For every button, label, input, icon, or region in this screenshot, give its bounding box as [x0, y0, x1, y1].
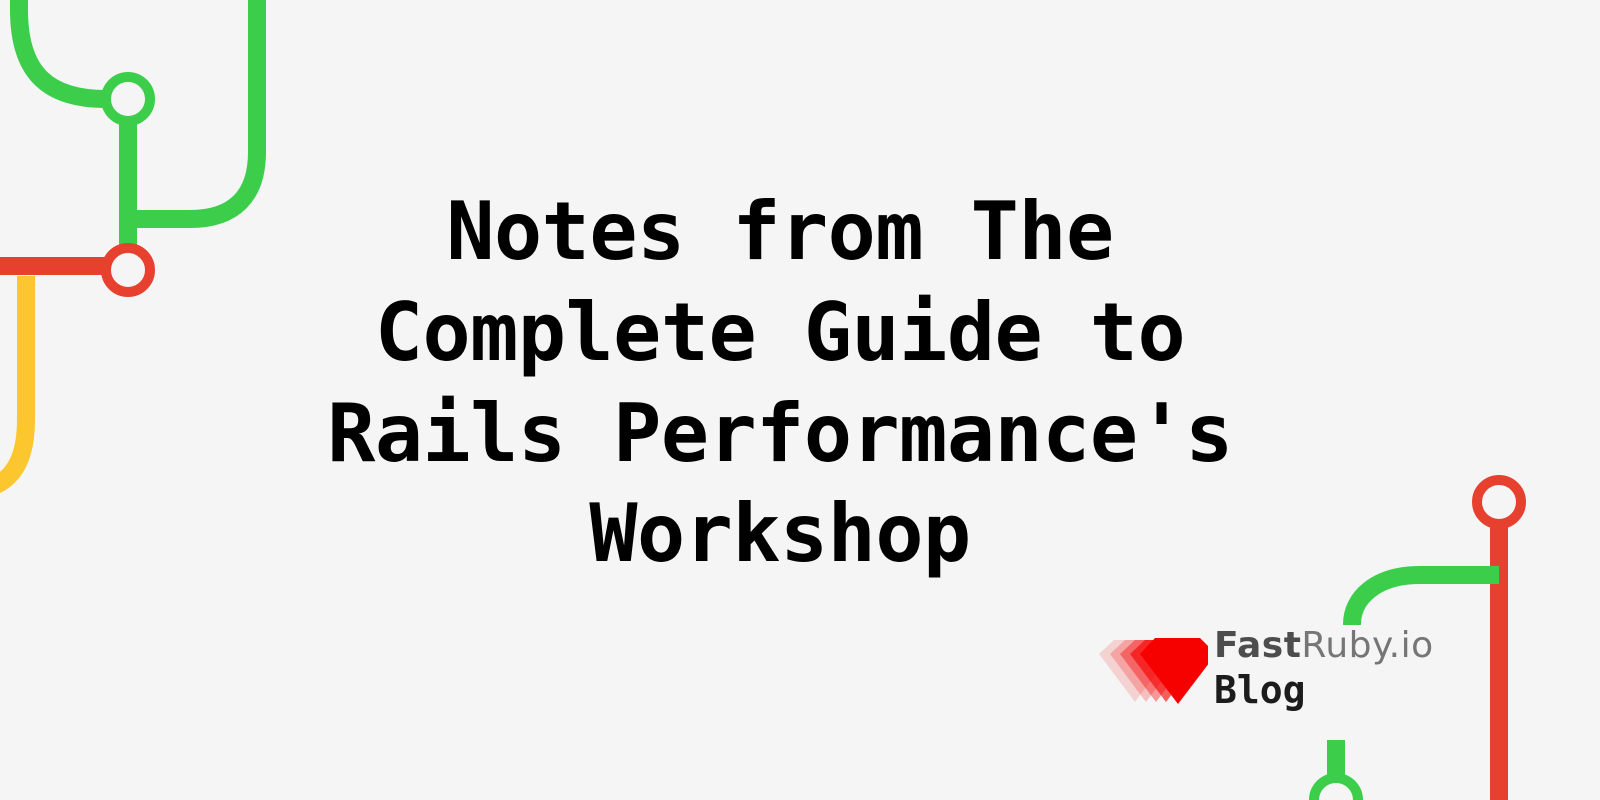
ruby-gem-icon	[1090, 632, 1208, 706]
brand-wordmark: FastRuby.io	[1214, 628, 1434, 664]
green-node-top-left	[106, 77, 150, 121]
red-node-left	[106, 248, 150, 292]
brand-text-block: FastRuby.io Blog	[1214, 628, 1434, 709]
page-title: Notes from The Complete Guide to Rails P…	[280, 182, 1280, 585]
red-node-bottom-right	[1477, 480, 1521, 524]
title-block: Notes from The Complete Guide to Rails P…	[280, 182, 1280, 582]
green-path-bottom-right	[1352, 575, 1499, 625]
brand-lockup: FastRuby.io Blog	[1090, 628, 1434, 709]
cover-canvas: Notes from The Complete Guide to Rails P…	[0, 0, 1600, 800]
brand-name-light: Ruby.io	[1301, 625, 1433, 666]
brand-name-bold: Fast	[1214, 625, 1301, 666]
green-node-bottom	[1314, 778, 1358, 800]
green-path-top-left	[19, 0, 106, 99]
brand-subtitle: Blog	[1214, 671, 1434, 709]
yellow-path-left	[0, 276, 26, 490]
green-path-top-right-branch	[128, 0, 257, 219]
